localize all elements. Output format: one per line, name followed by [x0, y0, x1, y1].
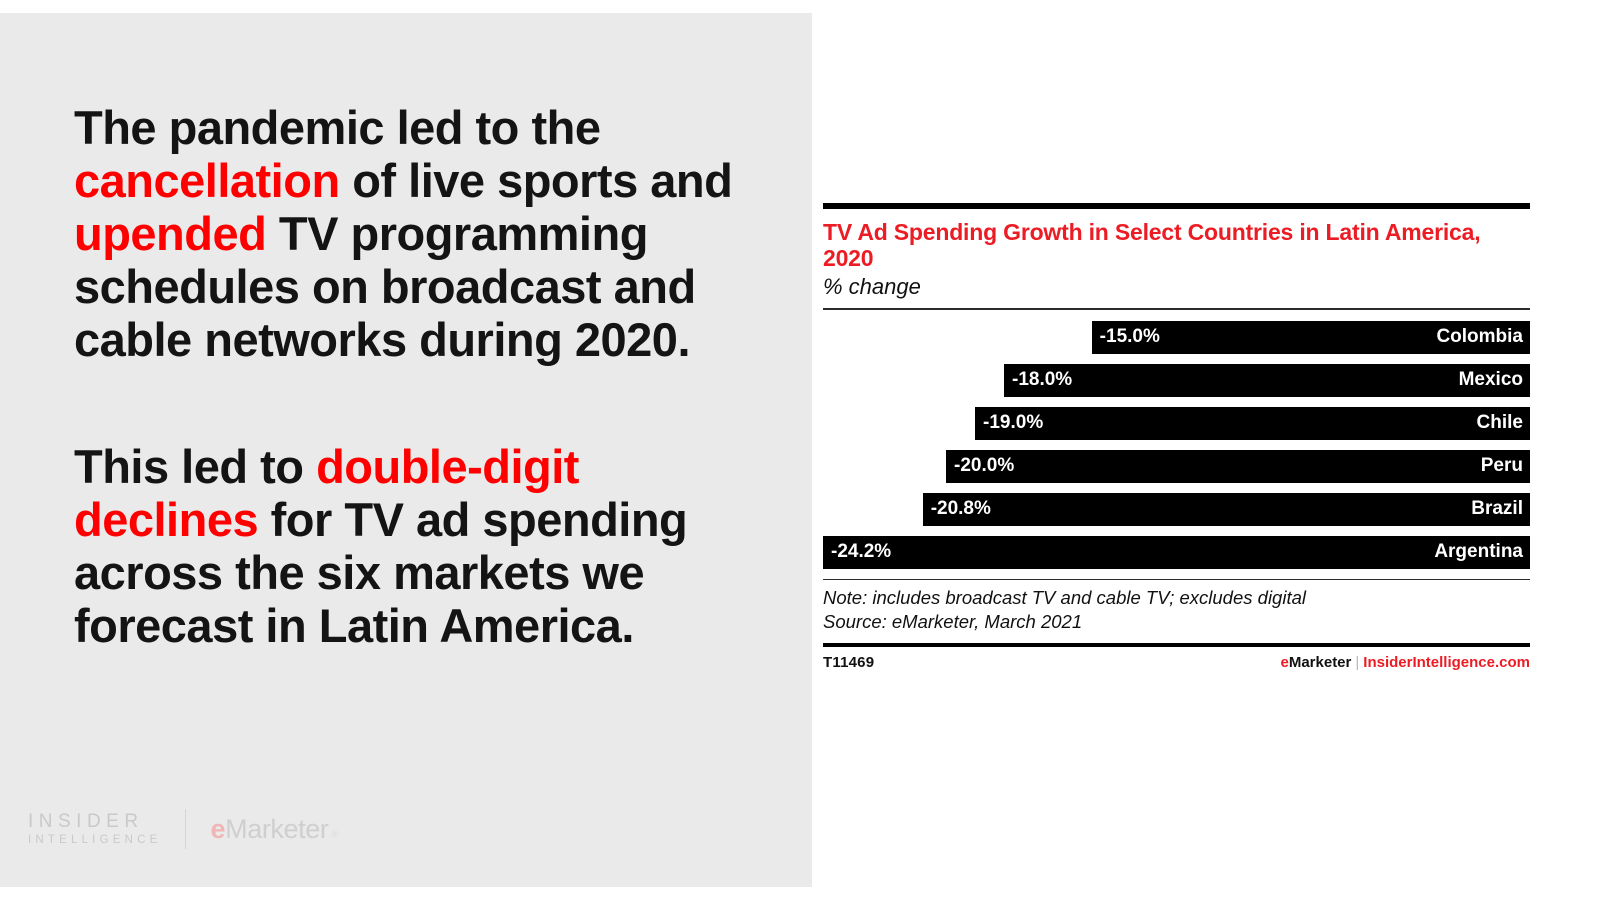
callout-paragraph-2-run-0: This led to — [74, 440, 316, 493]
bar-category-label: Brazil — [1471, 498, 1530, 520]
insider-intelligence-logo: INSIDER INTELLIGENCE — [28, 811, 161, 848]
slide-root: The pandemic led to the cancellation of … — [0, 0, 1600, 900]
attribution-website[interactable]: InsiderIntelligence.com — [1363, 654, 1530, 671]
bar-value-label: -20.8% — [923, 498, 991, 520]
bar-value-label: -24.2% — [823, 541, 891, 563]
callout-paragraph-1-run-2: of live sports and — [340, 154, 733, 207]
bar-mexico[interactable]: -18.0%Mexico — [1004, 364, 1530, 397]
brand-logo-lockup: INSIDER INTELLIGENCE eMarketer® — [28, 806, 338, 852]
bar-value-label: -18.0% — [1004, 369, 1072, 391]
attribution-brand-word: Marketer — [1289, 654, 1352, 671]
bar-value-label: -19.0% — [975, 412, 1043, 434]
bar-category-label: Chile — [1477, 412, 1530, 434]
callout-paragraph-2: This led to double-digit declines for TV… — [74, 440, 754, 652]
emarketer-logo-word: Marketer — [225, 814, 328, 845]
bar-row: -24.2%Argentina — [823, 536, 1530, 569]
bar-row: -15.0%Colombia — [823, 321, 1530, 354]
emarketer-logo: eMarketer® — [210, 814, 338, 845]
bar-colombia[interactable]: -15.0%Colombia — [1092, 321, 1530, 354]
chart-note: Note: includes broadcast TV and cable TV… — [823, 586, 1530, 610]
bar-chart-plot-area: -15.0%Colombia-18.0%Mexico-19.0%Chile-20… — [823, 310, 1530, 569]
insider-logo-line-1: INSIDER — [28, 811, 161, 833]
bar-row: -20.0%Peru — [823, 450, 1530, 483]
callout-text-block: The pandemic led to the cancellation of … — [74, 101, 754, 652]
bar-chile[interactable]: -19.0%Chile — [975, 407, 1530, 440]
attribution-brand-e: e — [1280, 654, 1288, 671]
callout-paragraph-1-run-1: cancellation — [74, 154, 340, 207]
callout-paragraph-1: The pandemic led to the cancellation of … — [74, 101, 754, 366]
bar-value-label: -20.0% — [946, 455, 1014, 477]
chart-footnotes: Note: includes broadcast TV and cable TV… — [823, 580, 1530, 640]
chart-attribution-bar: T11469 eMarketer|InsiderIntelligence.com — [823, 647, 1530, 671]
insider-logo-line-2: INTELLIGENCE — [28, 833, 161, 848]
chart-subtitle: % change — [823, 271, 1530, 305]
emarketer-logo-e: e — [210, 814, 225, 845]
chart-title: TV Ad Spending Growth in Select Countrie… — [823, 209, 1530, 271]
trademark-icon: ® — [330, 829, 338, 841]
bar-category-label: Colombia — [1436, 326, 1530, 348]
callout-paragraph-1-run-3: upended — [74, 207, 266, 260]
bar-category-label: Peru — [1481, 455, 1530, 477]
chart-card: TV Ad Spending Growth in Select Countrie… — [823, 203, 1530, 671]
bar-argentina[interactable]: -24.2%Argentina — [823, 536, 1530, 569]
bar-row: -18.0%Mexico — [823, 364, 1530, 397]
bar-peru[interactable]: -20.0%Peru — [946, 450, 1530, 483]
logo-divider — [185, 809, 186, 849]
attribution-separator: | — [1351, 654, 1363, 671]
bar-row: -19.0%Chile — [823, 407, 1530, 440]
attribution-brand: eMarketer|InsiderIntelligence.com — [1280, 654, 1530, 671]
chart-id-code: T11469 — [823, 654, 874, 671]
chart-source: Source: eMarketer, March 2021 — [823, 610, 1530, 634]
bar-value-label: -15.0% — [1092, 326, 1160, 348]
left-callout-panel: The pandemic led to the cancellation of … — [0, 13, 812, 887]
bar-brazil[interactable]: -20.8%Brazil — [923, 493, 1530, 526]
bar-category-label: Mexico — [1459, 369, 1530, 391]
callout-paragraph-1-run-0: The pandemic led to the — [74, 101, 600, 154]
bar-row: -20.8%Brazil — [823, 493, 1530, 526]
bar-category-label: Argentina — [1434, 541, 1530, 563]
